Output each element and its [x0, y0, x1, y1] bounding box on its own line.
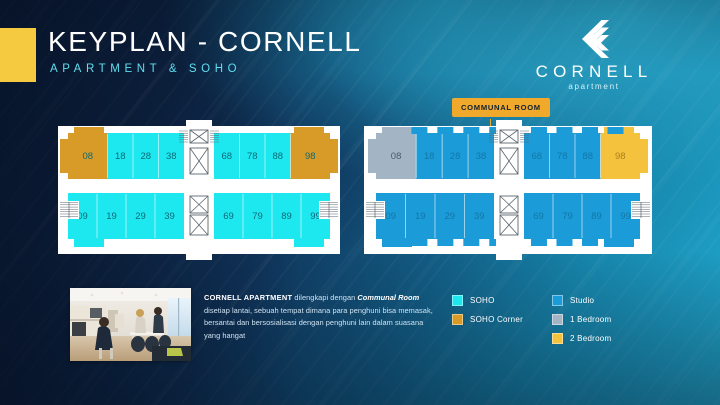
description-mid: dilengkapi dengan [292, 293, 357, 302]
header: KEYPLAN - CORNELL APARTMENT & SOHO CORNE… [0, 0, 720, 110]
unit-label: 79 [252, 211, 263, 222]
soho-floor-plan: 08182838687888980919293969798999 [58, 120, 340, 260]
legend-item: 2 Bedroom [552, 330, 611, 346]
unit-label: 18 [424, 151, 435, 162]
apartment-floor-plan: 08182838687888980919293969798999 [364, 120, 652, 260]
unit-label: 69 [533, 211, 544, 222]
legend-swatch-soho-corner [452, 314, 463, 325]
legend-label: Studio [570, 296, 594, 305]
unit-label: 79 [562, 211, 573, 222]
description-text: CORNELL APARTMENT dilengkapi dengan Comm… [204, 292, 440, 343]
unit-label: 28 [140, 151, 151, 162]
description-lead: CORNELL APARTMENT [204, 293, 292, 302]
unit-label: 39 [474, 211, 485, 222]
unit-label: 78 [247, 151, 258, 162]
unit-label: 18 [115, 151, 126, 162]
unit-label: 38 [476, 151, 487, 162]
unit-label: 78 [557, 151, 568, 162]
unit-label: 09 [385, 211, 396, 222]
slide-canvas: KEYPLAN - CORNELL APARTMENT & SOHO CORNE… [0, 0, 720, 405]
communal-room-photo [70, 288, 191, 361]
description-rest: disetiap lantai, sebuah tempat dimana pa… [204, 306, 433, 340]
unit-label: 88 [582, 151, 593, 162]
legend-item: Studio [552, 292, 611, 308]
unit-label: 99 [620, 211, 631, 222]
legend-swatch-studio [552, 295, 563, 306]
unit-label: 98 [305, 151, 316, 162]
floor-plans: 08182838687888980919293969798999 0818283… [0, 120, 720, 265]
legend-column-soho: SOHO SOHO Corner [452, 292, 523, 330]
unit-label: 29 [444, 211, 455, 222]
callout-label: COMMUNAL ROOM [452, 98, 550, 117]
logo-tagline: apartment [514, 82, 674, 91]
unit-label: 89 [281, 211, 292, 222]
legend-label: SOHO Corner [470, 315, 523, 324]
communal-room-interior-illustration [70, 288, 191, 361]
legend-item: 1 Bedroom [552, 311, 611, 327]
unit-label: 08 [391, 151, 402, 162]
description-emphasis: Communal Room [357, 293, 419, 302]
legend-swatch-soho [452, 295, 463, 306]
page-title: KEYPLAN - CORNELL [48, 28, 362, 56]
legend-item: SOHO Corner [452, 311, 523, 327]
unit-label: 98 [615, 151, 626, 162]
legend-label: SOHO [470, 296, 495, 305]
legend-label: 1 Bedroom [570, 315, 611, 324]
legend-label: 2 Bedroom [570, 334, 611, 343]
legend-item: SOHO [452, 292, 523, 308]
unit-label: 29 [135, 211, 146, 222]
legend-swatch-one-bedroom [552, 314, 563, 325]
unit-label: 28 [450, 151, 461, 162]
bottom-section: CORNELL APARTMENT dilengkapi dengan Comm… [0, 282, 720, 372]
legend: SOHO SOHO Corner Studio 1 Bedroom [452, 292, 652, 354]
unit-label: 68 [221, 151, 232, 162]
unit-label: 69 [223, 211, 234, 222]
cornell-c-mark-icon [571, 18, 617, 60]
unit-label: 89 [591, 211, 602, 222]
accent-block [0, 28, 36, 82]
unit-label: 19 [415, 211, 426, 222]
brand-logo: CORNELL apartment [514, 18, 674, 92]
unit-label: 68 [531, 151, 542, 162]
unit-label: 88 [272, 151, 283, 162]
unit-label: 19 [106, 211, 117, 222]
legend-swatch-two-bedroom [552, 333, 563, 344]
logo-wordmark: CORNELL [514, 62, 674, 82]
page-subtitle: APARTMENT & SOHO [50, 64, 241, 76]
unit-label: 38 [166, 151, 177, 162]
unit-label: 08 [82, 151, 93, 162]
unit-label: 39 [164, 211, 175, 222]
legend-column-apartment: Studio 1 Bedroom 2 Bedroom [552, 292, 611, 349]
